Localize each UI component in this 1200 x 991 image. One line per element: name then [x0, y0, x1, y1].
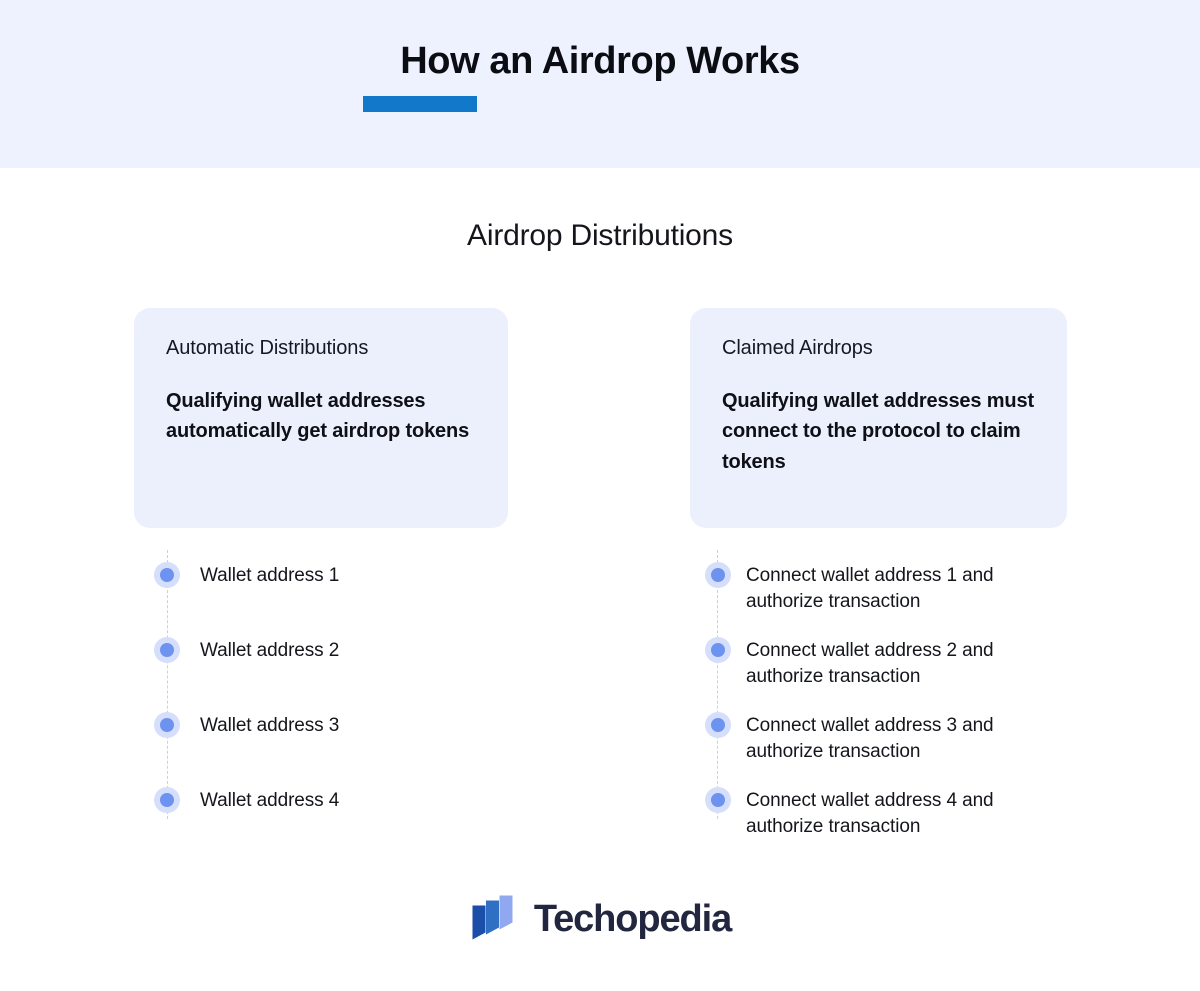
page-title: How an Airdrop Works — [363, 40, 837, 83]
step-bullet-icon — [134, 631, 200, 669]
list-item[interactable]: Wallet address 3 — [134, 706, 508, 781]
card-heading: Automatic Distributions — [166, 336, 476, 360]
list-item-label: Connect wallet address 4 and authorize t… — [746, 781, 1067, 840]
step-bullet-icon — [690, 706, 746, 744]
list-item[interactable]: Connect wallet address 1 and authorize t… — [690, 556, 1067, 631]
card-claimed-airdrops: Claimed Airdrops Qualifying wallet addre… — [690, 308, 1067, 528]
card-body: Qualifying wallet addresses must connect… — [722, 386, 1035, 477]
list-item[interactable]: Connect wallet address 4 and authorize t… — [690, 781, 1067, 856]
card-heading: Claimed Airdrops — [722, 336, 1035, 360]
footer-brand: Techopedia — [0, 893, 1200, 946]
list-item-label: Connect wallet address 3 and authorize t… — [746, 706, 1067, 765]
header-band: How an Airdrop Works — [0, 0, 1200, 168]
list-item-label: Connect wallet address 1 and authorize t… — [746, 556, 1067, 615]
list-item-label: Wallet address 2 — [200, 631, 508, 664]
step-bullet-icon — [690, 781, 746, 819]
list-item[interactable]: Wallet address 2 — [134, 631, 508, 706]
main-content: Airdrop Distributions Automatic Distribu… — [0, 168, 1200, 991]
steps-list-automatic: Wallet address 1 Wallet address 2 Wallet… — [134, 550, 508, 856]
brand-wordmark: Techopedia — [534, 898, 731, 941]
list-item-label: Wallet address 3 — [200, 706, 508, 739]
step-bullet-icon — [134, 706, 200, 744]
techopedia-logo-icon — [469, 893, 519, 946]
card-body: Qualifying wallet addresses automaticall… — [166, 386, 476, 447]
header-title-group: How an Airdrop Works — [363, 40, 837, 112]
column-claimed-airdrops: Claimed Airdrops Qualifying wallet addre… — [690, 308, 1067, 856]
steps-list-claimed: Connect wallet address 1 and authorize t… — [690, 550, 1067, 856]
list-item[interactable]: Connect wallet address 2 and authorize t… — [690, 631, 1067, 706]
list-item-label: Connect wallet address 2 and authorize t… — [746, 631, 1067, 690]
title-accent-rule — [363, 96, 477, 112]
list-item[interactable]: Wallet address 4 — [134, 781, 508, 856]
column-automatic-distributions: Automatic Distributions Qualifying walle… — [134, 308, 508, 856]
list-item[interactable]: Connect wallet address 3 and authorize t… — [690, 706, 1067, 781]
list-item-label: Wallet address 1 — [200, 556, 508, 589]
step-bullet-icon — [690, 556, 746, 594]
section-title: Airdrop Distributions — [0, 219, 1200, 253]
step-bullet-icon — [134, 781, 200, 819]
step-bullet-icon — [134, 556, 200, 594]
step-bullet-icon — [690, 631, 746, 669]
list-item-label: Wallet address 4 — [200, 781, 508, 814]
list-item[interactable]: Wallet address 1 — [134, 556, 508, 631]
card-automatic-distributions: Automatic Distributions Qualifying walle… — [134, 308, 508, 528]
